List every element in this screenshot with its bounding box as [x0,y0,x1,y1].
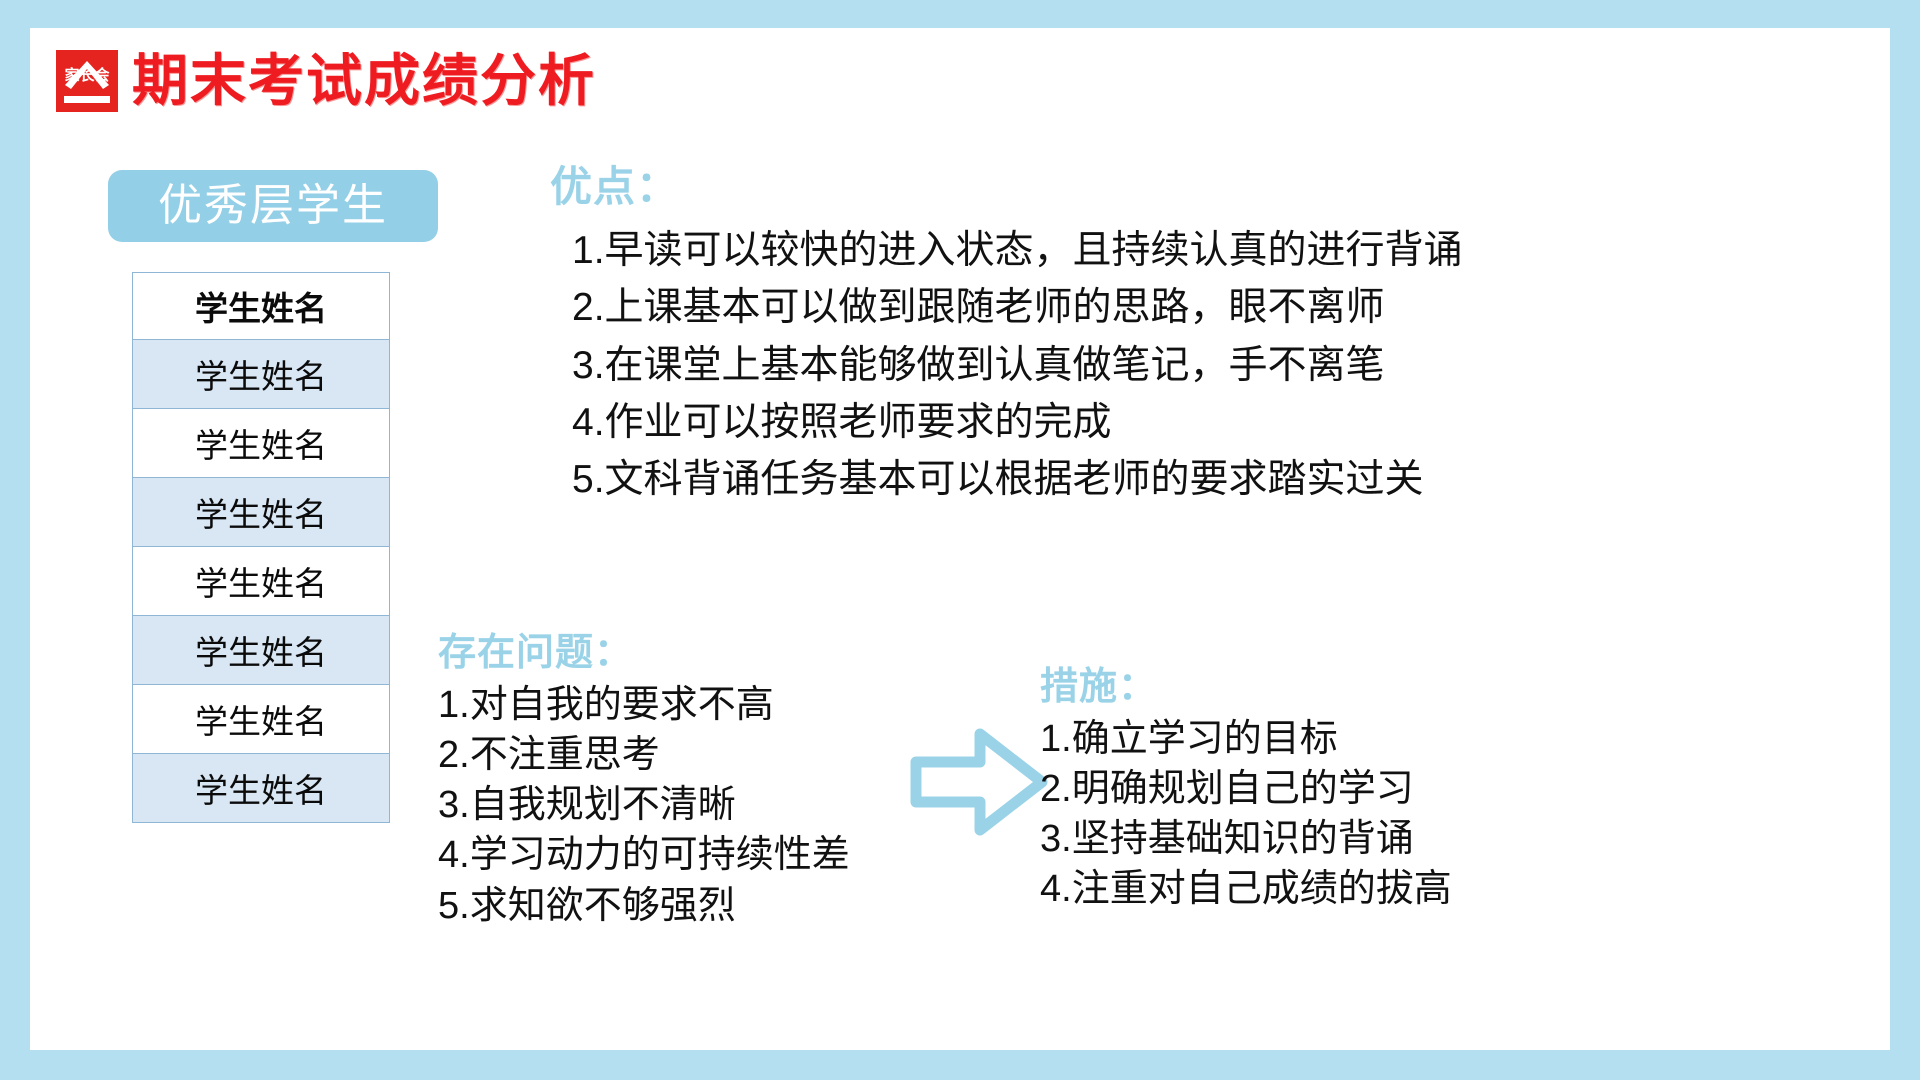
merits-heading: 优点： [550,166,1860,208]
right-arrow-icon [910,722,1050,842]
logo-label: 家长会 [56,68,118,83]
table-row: 学生姓名 [133,754,390,823]
student-name-cell: 学生姓名 [133,478,390,547]
table-row: 学生姓名 [133,478,390,547]
table-row: 学生姓名 [133,409,390,478]
list-item: 3.在课堂上基本能够做到认真做笔记，手不离笔 [550,337,1860,394]
table-row: 学生姓名 [133,340,390,409]
group-badge: 优秀层学生 [108,170,438,242]
page-title: 期末考试成绩分析 [132,53,596,109]
student-name-cell: 学生姓名 [133,340,390,409]
list-item: 1.确立学习的目标 [1040,714,1680,764]
problems-heading: 存在问题： [438,634,998,672]
student-name-cell: 学生姓名 [133,685,390,754]
student-group-panel: 优秀层学生 学生姓名 学生姓名 学生姓名 学生姓名 [108,170,438,823]
page-title-row: 家长会 期末考试成绩分析 [56,50,596,112]
student-name-cell: 学生姓名 [133,409,390,478]
table-row: 学生姓名 [133,547,390,616]
merits-list: 1.早读可以较快的进入状态，且持续认真的进行背诵 2.上课基本可以做到跟随老师的… [550,222,1860,509]
table-header-row: 学生姓名 [133,273,390,340]
measures-list: 1.确立学习的目标 2.明确规划自己的学习 3.坚持基础知识的背诵 4.注重对自… [1040,714,1680,915]
parent-meeting-logo-icon: 家长会 [56,50,118,112]
list-item: 3.坚持基础知识的背诵 [1040,814,1680,864]
list-item: 5.求知欲不够强烈 [438,881,998,931]
student-name-cell: 学生姓名 [133,547,390,616]
list-item: 2.上课基本可以做到跟随老师的思路，眼不离师 [550,279,1860,336]
student-name-cell: 学生姓名 [133,754,390,823]
logo-base-bar [64,96,110,103]
table-row: 学生姓名 [133,685,390,754]
table-header-cell: 学生姓名 [133,273,390,340]
list-item: 2.明确规划自己的学习 [1040,764,1680,814]
list-item: 4.注重对自己成绩的拔高 [1040,864,1680,914]
measures-heading: 措施： [1040,668,1680,706]
list-item: 5.文科背诵任务基本可以根据老师的要求踏实过关 [550,451,1860,508]
list-item: 4.作业可以按照老师要求的完成 [550,394,1860,451]
list-item: 1.早读可以较快的进入状态，且持续认真的进行背诵 [550,222,1860,279]
student-name-cell: 学生姓名 [133,616,390,685]
slide-canvas: 家长会 期末考试成绩分析 优秀层学生 学生姓名 学生姓名 学生姓名 [30,28,1890,1050]
student-name-table: 学生姓名 学生姓名 学生姓名 学生姓名 学生姓名 学生姓名 [132,272,390,823]
measures-section: 措施： 1.确立学习的目标 2.明确规划自己的学习 3.坚持基础知识的背诵 4.… [1040,668,1680,915]
merits-section: 优点： 1.早读可以较快的进入状态，且持续认真的进行背诵 2.上课基本可以做到跟… [550,166,1860,509]
table-row: 学生姓名 [133,616,390,685]
slide-frame: 家长会 期末考试成绩分析 优秀层学生 学生姓名 学生姓名 学生姓名 [0,0,1920,1080]
